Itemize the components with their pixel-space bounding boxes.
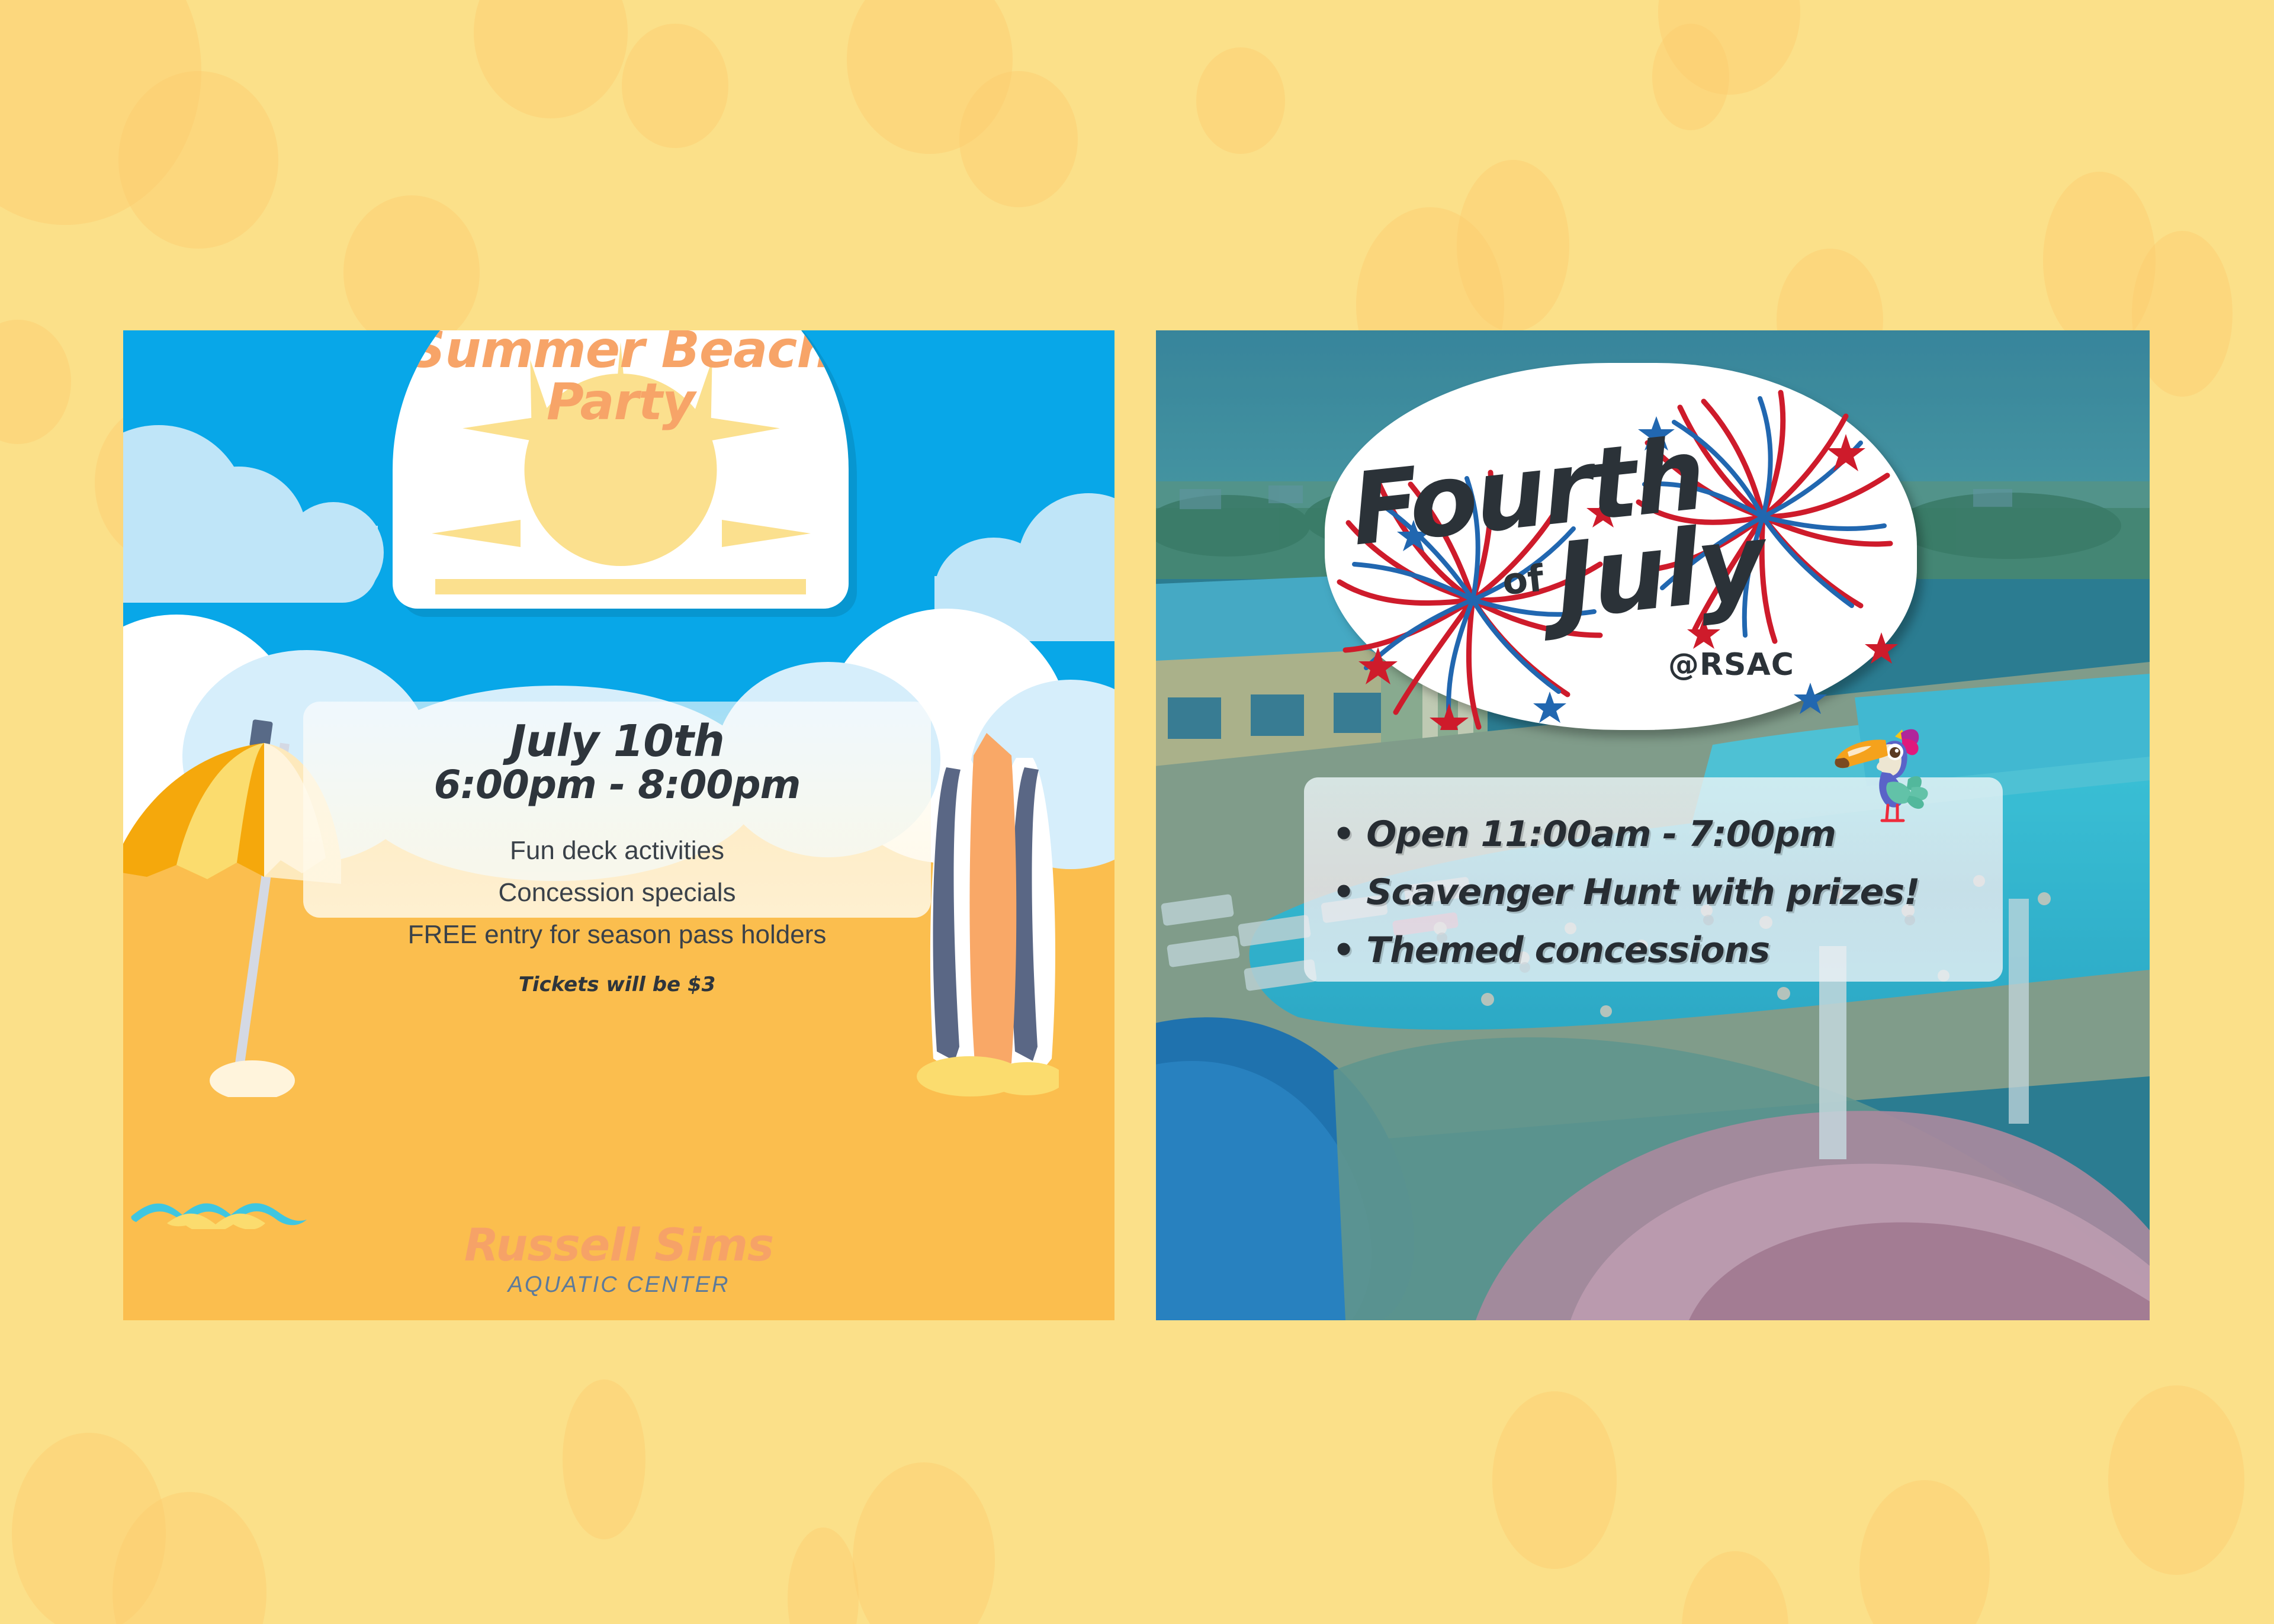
ticket-price-note: Tickets will be $3: [303, 973, 931, 996]
sticker-handle: @RSAC: [1668, 647, 1794, 683]
poster-title: Summer Beach Party: [393, 330, 849, 428]
sun-ray: [432, 520, 521, 547]
sun-title-badge: Summer Beach Party: [393, 330, 849, 609]
list-item-label: Scavenger Hunt with prizes!: [1366, 872, 1919, 913]
list-item: • Themed concessions: [1332, 922, 2003, 980]
event-bullet-list: • Open 11:00am - 7:00pm • Scavenger Hunt…: [1332, 806, 2003, 979]
bubble: [563, 1379, 645, 1539]
bubble: [1652, 24, 1729, 130]
bubble: [118, 71, 278, 249]
poster-fourth-of-july[interactable]: Fourth of July @RSAC • Open 11:00am - 7:…: [1156, 330, 2150, 1320]
list-item-label: Open 11:00am - 7:00pm: [1366, 813, 1836, 855]
brand-subtitle: AQUATIC CENTER: [123, 1272, 1114, 1298]
bubble: [622, 24, 728, 148]
list-item: Fun deck activities: [303, 829, 931, 872]
list-item: • Scavenger Hunt with prizes!: [1332, 864, 2003, 922]
bubble: [2108, 1385, 2244, 1575]
event-time: 6:00pm - 8:00pm: [303, 764, 931, 805]
bubble: [1682, 1551, 1788, 1624]
list-item: FREE entry for season pass holders: [303, 914, 931, 956]
fourth-of-july-sticker: Fourth of July @RSAC: [1325, 363, 1917, 730]
bubble: [1859, 1480, 1990, 1624]
list-item-label: Themed concessions: [1366, 930, 1769, 971]
bubble: [959, 71, 1078, 207]
bubble: [474, 0, 628, 118]
bubble: [0, 320, 71, 444]
poster-summer-beach-party[interactable]: Summer Beach Party July 10th 6:00pm - 8:…: [123, 330, 1114, 1320]
sun-ray: [722, 520, 811, 547]
bubble: [1492, 1391, 1617, 1569]
bullet-dot: •: [1332, 930, 1354, 971]
list-item: Concession specials: [303, 872, 931, 914]
bubble: [853, 1462, 995, 1624]
cloud-shape: [123, 526, 378, 603]
sticker-word-july: July: [1550, 500, 1768, 642]
poster-title-line1: Summer Beach: [393, 330, 849, 377]
sun-baseline-bar: [435, 579, 806, 594]
event-date: July 10th: [303, 718, 931, 764]
bubble: [788, 1527, 859, 1624]
bullet-dot: •: [1332, 872, 1354, 913]
sticker-word-of: of: [1500, 557, 1546, 604]
event-bullet-list: Fun deck activities Concession specials …: [303, 829, 931, 956]
bullet-dot: •: [1332, 813, 1354, 855]
poster-title-line2: Party: [393, 377, 849, 429]
russell-sims-logo: Russell Sims AQUATIC CENTER: [123, 1190, 1114, 1298]
toucan-mascot-icon: [1831, 721, 1944, 828]
event-details-card: July 10th 6:00pm - 8:00pm Fun deck activ…: [303, 702, 931, 918]
bubble: [343, 195, 480, 349]
surfboards-illustration: [911, 692, 1059, 1106]
bubble: [1196, 47, 1285, 154]
brand-name: Russell Sims: [123, 1218, 1114, 1271]
